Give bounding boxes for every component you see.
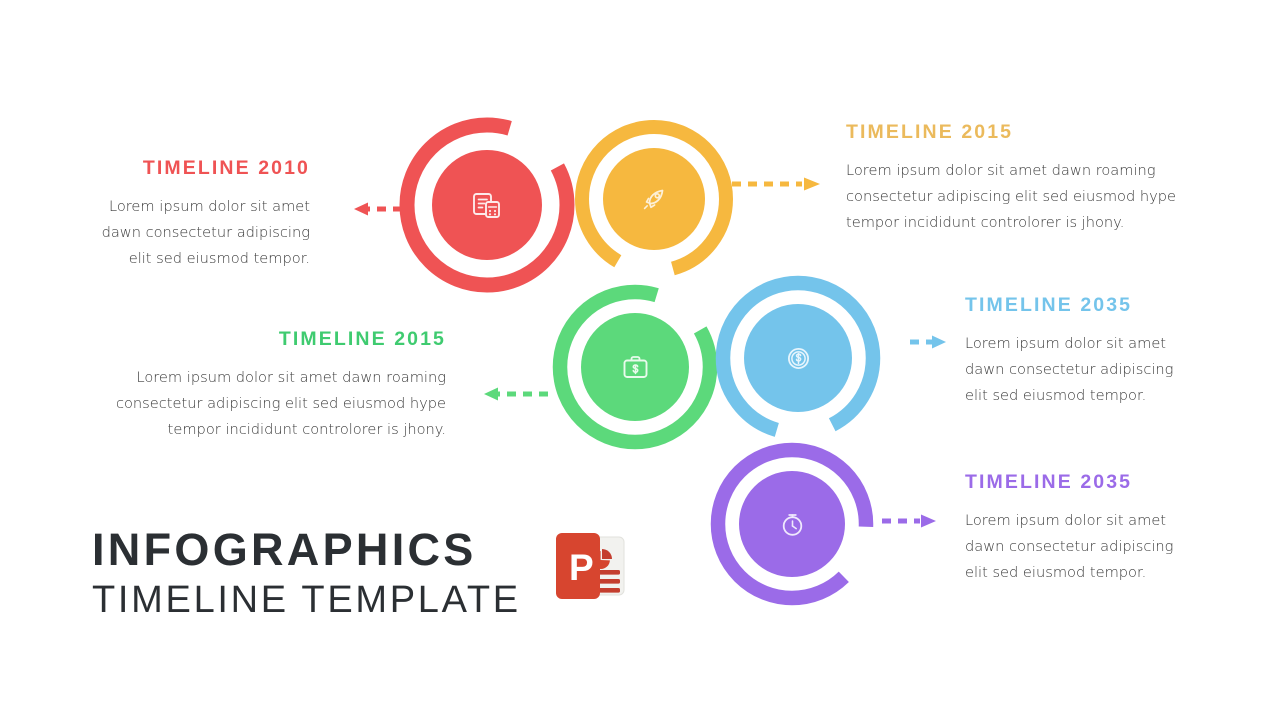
timeline-body-line: elit sed eiusmod tempor.: [60, 246, 310, 272]
arrow-green-left: [466, 384, 550, 404]
ring-green[interactable]: [545, 277, 725, 457]
timeline-body-line: consectetur adipiscing elit sed eiusmod …: [846, 184, 1206, 210]
timeline-heading: TIMELINE 2035: [965, 294, 1215, 317]
infographic-slide: TIMELINE 2010 Lorem ipsum dolor sit amet…: [0, 0, 1280, 720]
timeline-block-red: TIMELINE 2010 Lorem ipsum dolor sit amet…: [60, 157, 310, 272]
timeline-heading: TIMELINE 2015: [846, 121, 1206, 144]
ring-yellow[interactable]: [568, 113, 740, 285]
ring-red[interactable]: [392, 110, 582, 300]
timeline-body-line: tempor incididunt controlorer is jhony.: [80, 417, 446, 443]
powerpoint-logo: P: [552, 531, 638, 608]
timeline-body-line: Lorem ipsum dolor sit amet: [965, 508, 1215, 534]
timeline-body: Lorem ipsum dolor sit amet dawn consecte…: [60, 194, 310, 272]
timeline-body: Lorem ipsum dolor sit amet dawn consecte…: [965, 508, 1215, 586]
timeline-body: Lorem ipsum dolor sit amet dawn roaming …: [80, 365, 446, 443]
disc-red: [432, 150, 542, 260]
rocket-icon: [638, 183, 670, 215]
timeline-block-yellow: TIMELINE 2015 Lorem ipsum dolor sit amet…: [846, 121, 1206, 236]
timeline-body: Lorem ipsum dolor sit amet dawn consecte…: [965, 331, 1215, 409]
timeline-body-line: dawn consectetur adipiscing: [60, 220, 310, 246]
timeline-block-green: TIMELINE 2015 Lorem ipsum dolor sit amet…: [80, 328, 446, 443]
title-main: INFOGRAPHICS: [92, 524, 521, 576]
timeline-body-line: dawn consectetur adipiscing: [965, 534, 1215, 560]
slide-title: INFOGRAPHICS TIMELINE TEMPLATE: [92, 524, 521, 624]
timeline-body-line: Lorem ipsum dolor sit amet dawn roaming: [80, 365, 446, 391]
timeline-block-blue: TIMELINE 2035 Lorem ipsum dolor sit amet…: [965, 294, 1215, 409]
arrow-red-left: [336, 199, 404, 219]
disc-green: [581, 313, 689, 421]
timeline-heading: TIMELINE 2035: [965, 471, 1215, 494]
timeline-body-line: consectetur adipiscing elit sed eiusmod …: [80, 391, 446, 417]
arrow-purple-right: [880, 511, 938, 531]
timeline-body-line: dawn consectetur adipiscing: [965, 357, 1215, 383]
disc-blue: [744, 304, 852, 412]
title-sub: TIMELINE TEMPLATE: [92, 576, 521, 624]
timeline-body: Lorem ipsum dolor sit amet dawn roaming …: [846, 158, 1206, 236]
timeline-block-purple: TIMELINE 2035 Lorem ipsum dolor sit amet…: [965, 471, 1215, 586]
timeline-body-line: Lorem ipsum dolor sit amet: [60, 194, 310, 220]
stopwatch-icon: [776, 508, 809, 541]
timeline-body-line: tempor incididunt controlorer is jhony.: [846, 210, 1206, 236]
timeline-body-line: elit sed eiusmod tempor.: [965, 383, 1215, 409]
timeline-body-line: Lorem ipsum dolor sit amet dawn roaming: [846, 158, 1206, 184]
timeline-heading: TIMELINE 2010: [60, 157, 310, 180]
disc-yellow: [603, 148, 705, 250]
briefcase-dollar-icon: [619, 351, 652, 384]
ring-purple[interactable]: [703, 435, 881, 613]
arrow-blue-right: [908, 332, 948, 352]
disc-purple: [739, 471, 845, 577]
ring-blue[interactable]: [708, 268, 888, 448]
timeline-heading: TIMELINE 2015: [80, 328, 446, 351]
coin-dollar-icon: [782, 342, 815, 375]
timeline-body-line: Lorem ipsum dolor sit amet: [965, 331, 1215, 357]
powerpoint-logo-letter: P: [569, 547, 594, 588]
arrow-yellow-right: [730, 174, 822, 194]
document-calculator-icon: [470, 188, 504, 222]
timeline-body-line: elit sed eiusmod tempor.: [965, 560, 1215, 586]
